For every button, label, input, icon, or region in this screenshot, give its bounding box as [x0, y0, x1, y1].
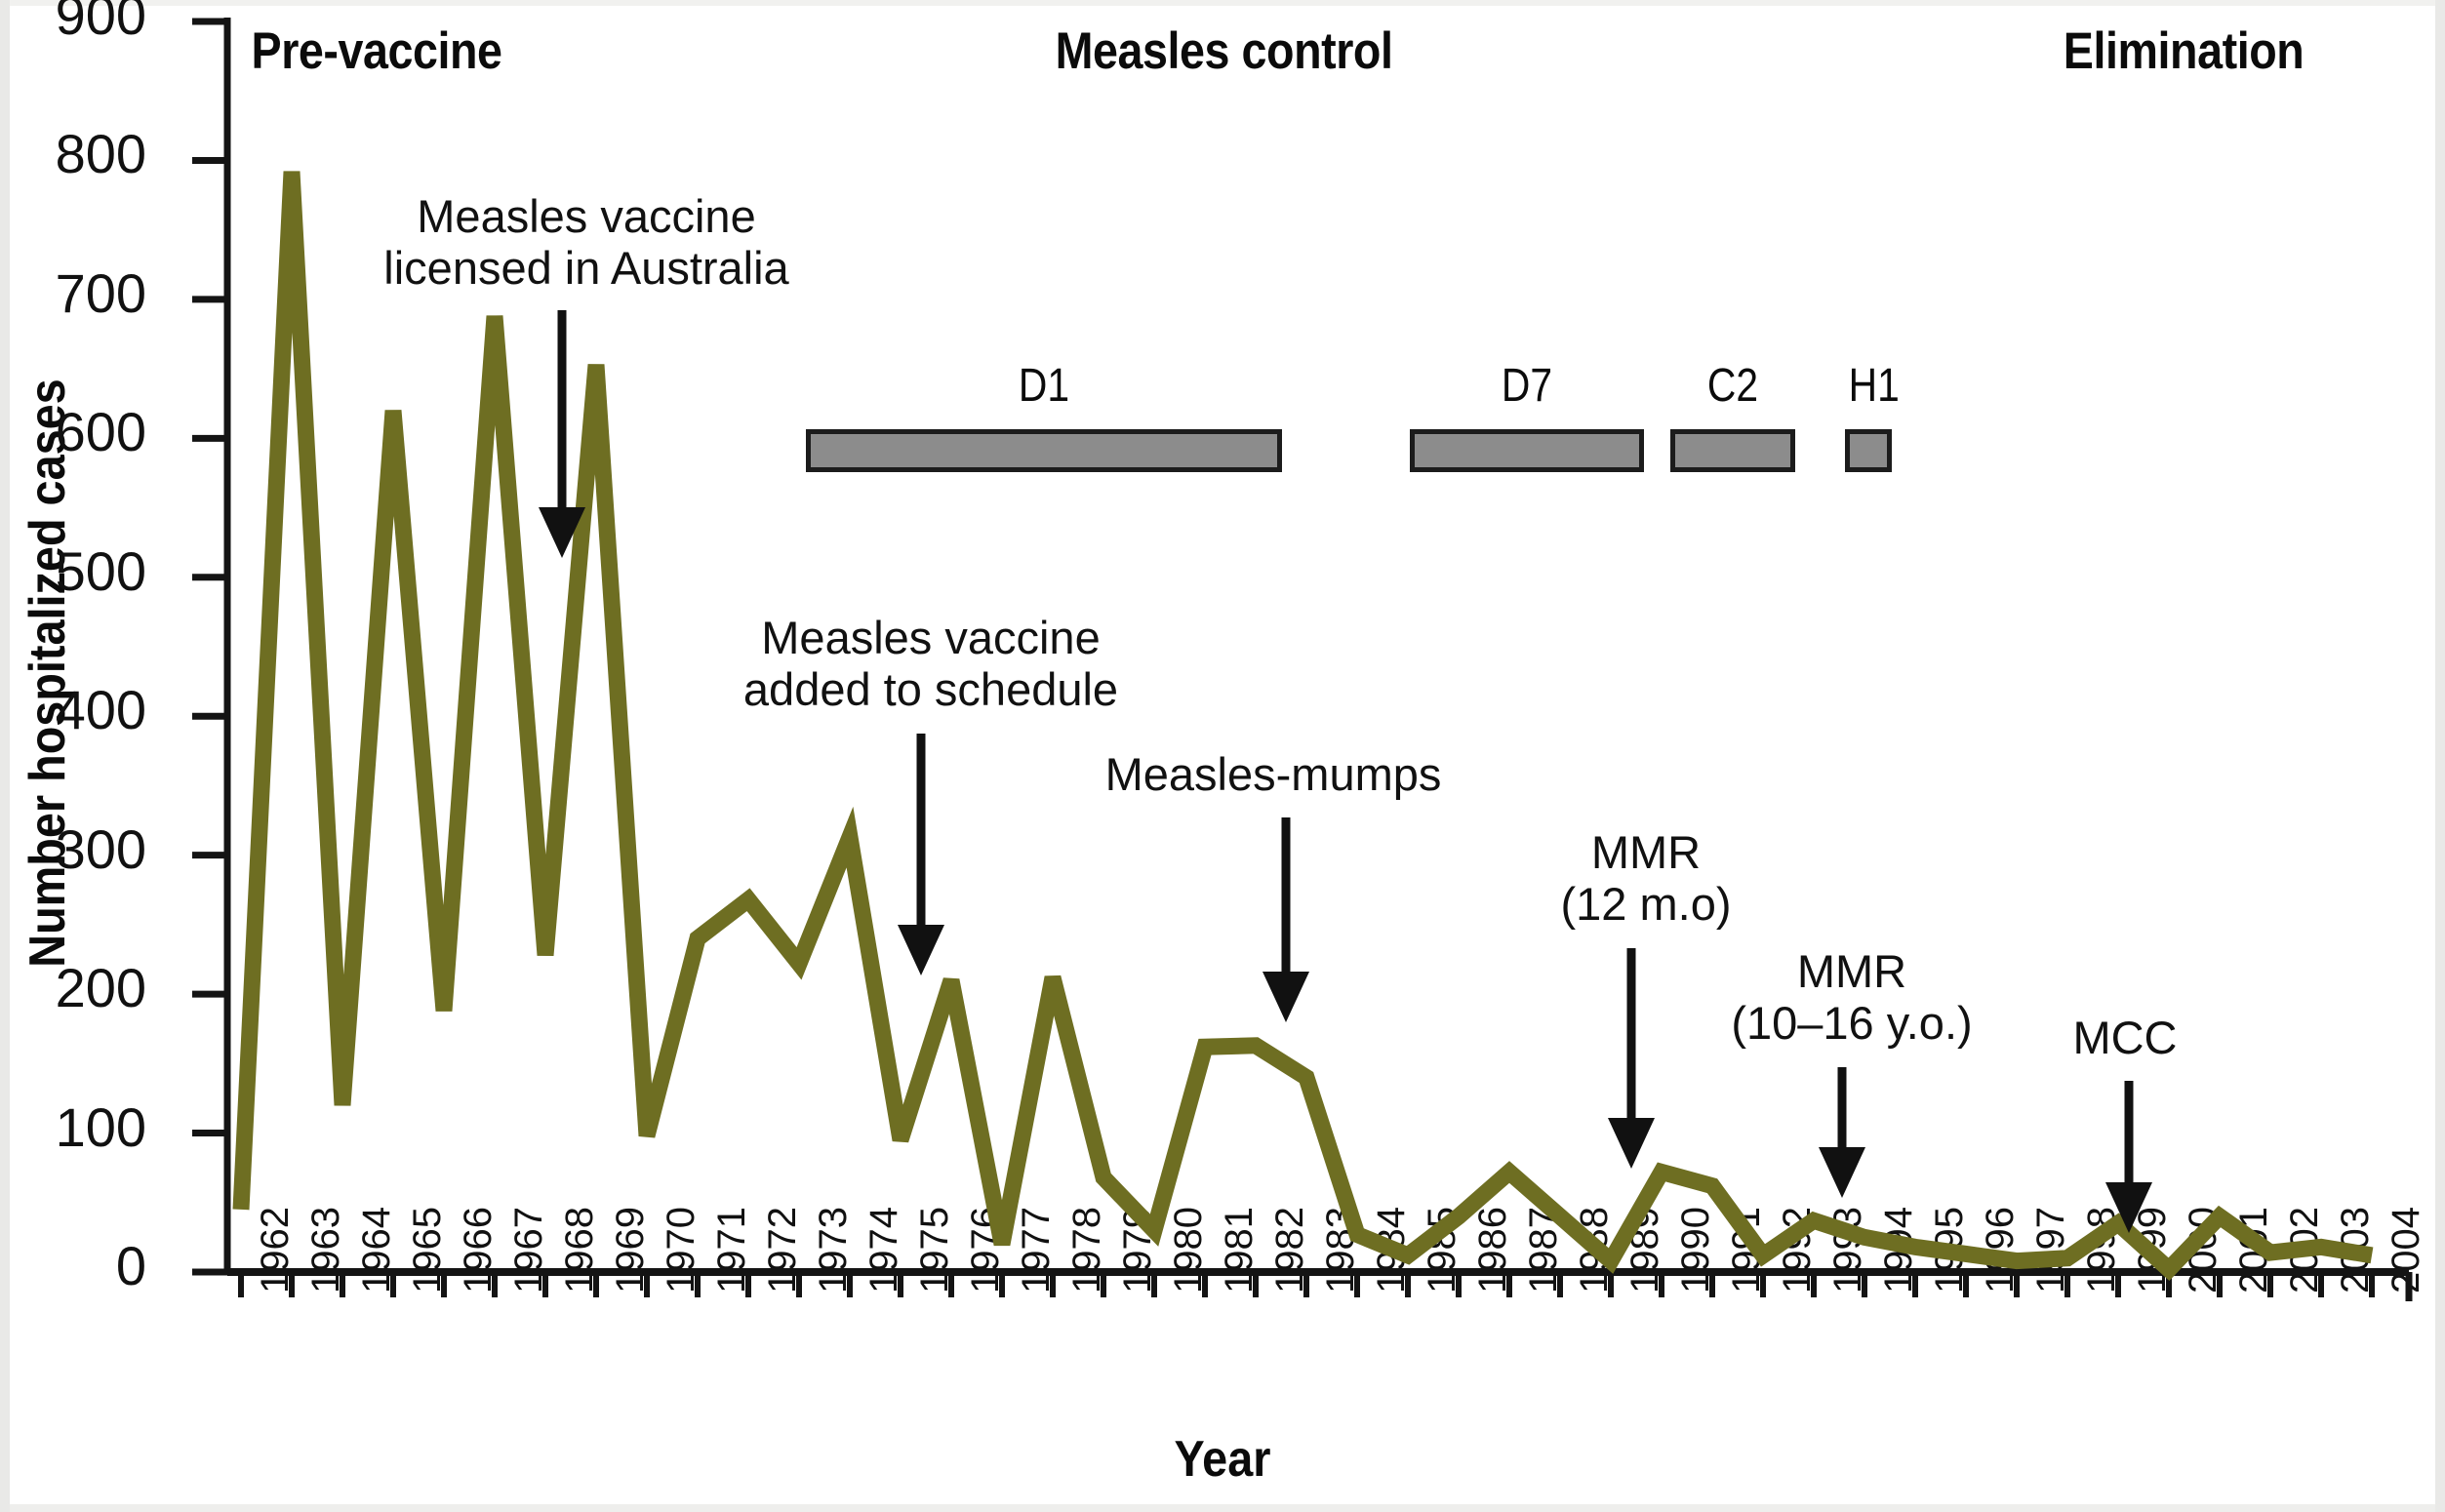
campaign-label-h1: H1: [1849, 359, 1889, 413]
annotation-measles-vaccine-added-to-schedule-line-1: added to schedule: [736, 664, 1126, 716]
measles-hospitalizations-chart: Pre-vaccineMeasles controlElimination Nu…: [0, 0, 2445, 1512]
campaign-bar-c2: [1670, 429, 1795, 472]
annotation-measles-vaccine-added-to-schedule-line-0: Measles vaccine: [736, 613, 1126, 664]
arrow-measles-vaccine-licensed: [539, 310, 585, 558]
annotation-mmr-12-months-line-1: (12 m.o): [1534, 879, 1758, 931]
annotation-mmr-12-months: MMR(12 m.o): [1534, 827, 1758, 930]
campaign-label-c2: C2: [1680, 359, 1786, 413]
annotation-mmr-10-16-years-line-1: (10–16 y.o.): [1715, 998, 1988, 1050]
campaign-label-d7: D7: [1427, 359, 1626, 413]
arrow-mcc: [2105, 1081, 2152, 1233]
campaign-bar-d1: [806, 429, 1282, 472]
annotation-mcc-line-0: MCC: [2047, 1013, 2203, 1064]
annotation-measles-vaccine-licensed-line-1: licensed in Australia: [377, 243, 796, 295]
campaign-bar-h1: [1845, 429, 1892, 472]
arrow-measles-mumps: [1263, 817, 1309, 1022]
annotation-measles-vaccine-licensed-line-0: Measles vaccine: [377, 191, 796, 243]
campaign-bar-d7: [1410, 429, 1644, 472]
annotation-mmr-10-16-years: MMR(10–16 y.o.): [1715, 946, 1988, 1049]
annotation-mmr-10-16-years-line-0: MMR: [1715, 946, 1988, 998]
arrow-mmr-12-months: [1608, 948, 1655, 1169]
arrow-mmr-10-16-years: [1819, 1067, 1865, 1198]
annotation-measles-mumps: Measles-mumps: [1093, 749, 1454, 801]
campaign-label-d1: D1: [842, 359, 1247, 413]
annotation-measles-vaccine-licensed: Measles vaccinelicensed in Australia: [377, 191, 796, 294]
annotation-mmr-12-months-line-0: MMR: [1534, 827, 1758, 879]
annotation-measles-vaccine-added-to-schedule: Measles vaccineadded to schedule: [736, 613, 1126, 715]
arrow-measles-vaccine-added-to-schedule: [898, 734, 944, 975]
annotation-mcc: MCC: [2047, 1013, 2203, 1064]
annotation-measles-mumps-line-0: Measles-mumps: [1093, 749, 1454, 801]
